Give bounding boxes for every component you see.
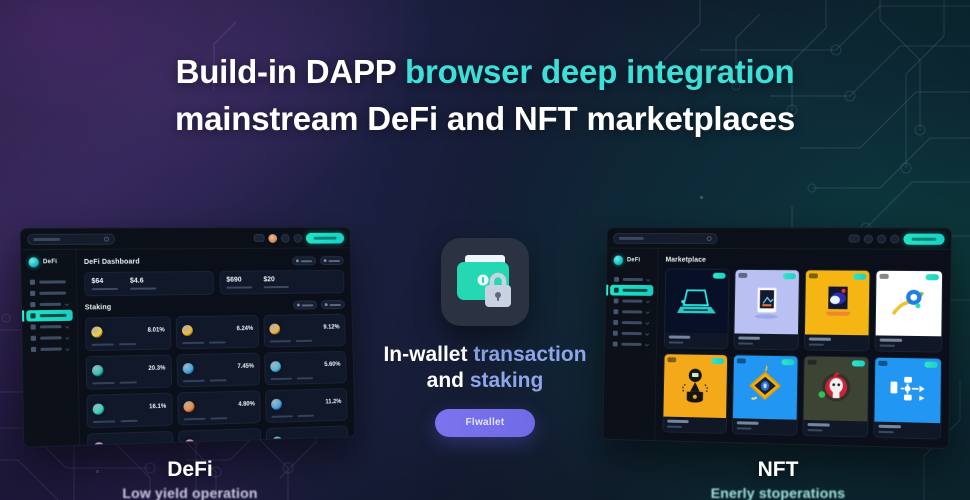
nft-nav-item-discover[interactable]: Discover (610, 274, 653, 285)
nft-card[interactable]: Magi Ink1.7 ETH (731, 354, 798, 436)
nft-artwork (665, 269, 728, 332)
center-line1-white: In-wallet (383, 343, 473, 366)
defi-brand: DeFi (25, 255, 72, 274)
staking-card[interactable]: CardanoADA20.3%Total StakedRewards (86, 354, 172, 389)
staking-card-meta1: Total Staked (272, 415, 293, 418)
nft-page-header: Marketplace (665, 257, 943, 265)
grid-icon[interactable] (864, 234, 873, 243)
nav-item-label: Discover (623, 278, 643, 281)
nft-brand: DeFi (611, 253, 655, 271)
staking-card[interactable]: TetherUSDT8.01%Total StakedRewards (85, 316, 171, 351)
staking-card[interactable]: EthereumETH7.45%Total StakedRewards (176, 353, 260, 388)
nft-tag (737, 358, 746, 363)
header-chip-wallet[interactable]: Wallet (320, 256, 344, 265)
nft-card-price: 0.5 ETH (808, 343, 823, 345)
coin-icon (92, 364, 103, 375)
bell-icon[interactable] (877, 234, 886, 243)
center-cta-label: Flwallet (465, 417, 504, 428)
stat: $64Total Supply (91, 278, 118, 290)
center-cta-button[interactable]: Flwallet (435, 409, 535, 437)
coin-icon (183, 401, 194, 412)
nav-item-label: Collections (622, 321, 642, 324)
nav-icon (30, 302, 35, 307)
staking-card-meta2: Rewards (209, 341, 226, 343)
stat-label: Estimated Yield (227, 286, 252, 288)
nft-nav-item-dashboard[interactable]: Dashboard (610, 306, 653, 317)
nft-nav-item-featured[interactable]: Featured (610, 285, 653, 296)
menu-icon[interactable] (849, 234, 860, 242)
nft-tag (807, 359, 816, 364)
caption-defi-title: DeFi (60, 458, 320, 482)
defi-nav-item-transfer[interactable]: Transfer (27, 343, 74, 355)
staking-card-meta1: Total Staked (182, 342, 204, 344)
nft-card[interactable]: Crypto Art0.6 ETH (873, 356, 942, 439)
caption-defi: DeFi Low yield operation (60, 458, 320, 500)
staking-card-meta2: Rewards (298, 415, 314, 417)
chip-icon (297, 304, 300, 307)
page-title: Marketplace (665, 257, 706, 264)
chip-label: Rewards (330, 303, 341, 305)
headline-line1-accent: browser deep integration (405, 53, 794, 90)
nft-card-price: 3.0 ETH (807, 429, 822, 431)
coin-icon (270, 361, 281, 372)
center-feature: In-wallet transaction and staking Flwall… (370, 238, 600, 437)
staking-card[interactable]: SolanaSOL9.12%Total StakedRewards (264, 314, 346, 348)
nft-card-price: 0.9 ETH (667, 426, 682, 428)
staking-card-meta2: Rewards (209, 379, 226, 381)
staking-grid: TetherUSDT8.01%Total StakedRewardsBitcoi… (85, 314, 349, 445)
nft-tag (667, 357, 676, 362)
staking-card-meta1: Total Staked (92, 382, 114, 385)
defi-topbar-actions: Connect Wallet (254, 232, 345, 243)
staking-card[interactable]: BitcoinBTC6.24%Total StakedRewards (175, 315, 259, 349)
staking-card-apy: 20.3% (148, 366, 165, 372)
staking-card-apy: 7.45% (237, 364, 254, 370)
stat-card: $690Estimated Yield$20Net Annual Rate (219, 270, 344, 295)
stat-value: $20 (263, 276, 288, 283)
defi-brand-name: DeFi (43, 259, 57, 265)
staking-card-apy: 4.80% (238, 401, 255, 407)
staking-chip-rewards[interactable]: Rewards (321, 300, 345, 309)
nav-item-label: My Assets (622, 332, 642, 335)
nft-tag (879, 360, 888, 365)
nav-item-label: Activity (622, 300, 642, 303)
staking-card[interactable]: PolygonMATIC12.0%Total StakedRewards (87, 431, 173, 445)
staking-card-meta1: Total Staked (183, 380, 205, 383)
defi-titlebar: Search Connect Wallet (21, 228, 350, 250)
stat: $20Net Annual Rate (263, 276, 288, 288)
chip-icon (296, 259, 299, 262)
nav-icon (614, 277, 619, 282)
center-line1-accent: transaction (473, 343, 586, 366)
nft-nav-item-collections[interactable]: Collections (609, 317, 652, 328)
stat-value: $64 (91, 278, 118, 285)
staking-card-apy: 5.60% (324, 362, 340, 368)
nft-badge (924, 361, 937, 367)
chevron-down-icon (645, 332, 649, 336)
nft-artwork (734, 270, 798, 334)
caption-nft-title: NFT (648, 458, 908, 482)
defi-nav-item-overview[interactable]: Overview (26, 276, 73, 288)
staking-card-apy: 6.24% (237, 326, 254, 332)
staking-card-meta1: Total Staked (92, 343, 114, 345)
nft-badge (782, 273, 795, 279)
nft-cta-label: Connect Wallet (912, 237, 937, 240)
stat-value: $690 (226, 277, 252, 284)
caption-nft-subtitle: Enerly stoperations (648, 485, 908, 500)
nft-card-title: Electric Art (880, 338, 903, 341)
logo-icon (28, 257, 38, 267)
staking-chip-stake[interactable]: Stake (293, 300, 317, 309)
chip-icon (324, 259, 327, 262)
nft-artwork (876, 271, 942, 336)
avatar[interactable] (268, 233, 277, 242)
chevron-down-icon (646, 310, 650, 314)
staking-card-meta1: Total Staked (270, 340, 291, 342)
stat: $690Estimated Yield (226, 277, 252, 289)
staking-card[interactable]: BinanceBNB11.2%Total StakedRewards (265, 388, 347, 423)
defi-page-header: DeFi Dashboard ConnectWallet (84, 256, 344, 267)
logo-icon (613, 255, 623, 265)
nav-item-label: Marketplace (40, 325, 62, 328)
nft-badge (853, 274, 866, 280)
nft-card-title: Crypto Art (879, 425, 902, 429)
nft-card[interactable]: Etheral0.8 ETH (664, 268, 730, 348)
nft-badge (713, 273, 726, 279)
defi-search-placeholder: Search (33, 237, 60, 240)
wallet-lock-icon (441, 238, 529, 326)
nft-card-title: Recap Pro (807, 423, 829, 427)
nft-artwork (875, 357, 941, 423)
nft-card-title: Chain Pro (667, 420, 688, 424)
defi-stat-cards: $64Total Supply$4.6Total Borrow$690Estim… (84, 270, 344, 297)
defi-dashboard-panel[interactable]: Search Connect Wallet DeFi OverviewDisco… (20, 227, 356, 448)
staking-card-apy: 16.1% (149, 404, 166, 411)
nft-badge (925, 274, 938, 280)
nft-brand-name: DeFi (627, 257, 640, 263)
promo-banner: Build-in DAPP browser deep integration m… (0, 0, 970, 500)
search-icon (104, 236, 109, 241)
search-icon (707, 236, 712, 241)
nft-card-title: Magic Art Tier (738, 336, 760, 339)
chip-label: Wallet (328, 260, 339, 262)
defi-nav-item-marketplace[interactable]: Marketplace (26, 321, 73, 333)
defi-main: DeFi Dashboard ConnectWallet $64Total Su… (77, 248, 355, 445)
nav-item-label: Transfer (621, 343, 641, 346)
nft-badge (711, 357, 724, 363)
staking-card-meta2: Rewards (119, 343, 136, 345)
nft-sidebar[interactable]: DeFi DiscoverFeaturedActivityDashboardCo… (603, 249, 659, 441)
nft-nav-item-activity[interactable]: Activity (610, 295, 653, 306)
nav-icon (613, 320, 618, 325)
nft-artwork (803, 356, 868, 421)
chip-icon (325, 303, 328, 306)
defi-nav-item-trade[interactable]: Trade (26, 299, 73, 311)
nav-icon (30, 291, 35, 296)
staking-card-meta1: Total Staked (93, 420, 115, 423)
nav-item-label: Transfer (40, 347, 62, 350)
nav-icon (31, 347, 36, 352)
nft-card[interactable]: Blue Ink0.5 ETH (803, 269, 871, 351)
nav-icon (31, 336, 36, 341)
nft-artwork (663, 354, 727, 418)
nft-main: Marketplace Etheral0.8 ETHMagic Art Tier… (655, 249, 950, 448)
chevron-down-icon (645, 342, 649, 346)
chevron-down-icon (65, 302, 69, 306)
nav-icon (614, 298, 619, 303)
nft-search-input[interactable]: Search (613, 233, 718, 244)
nft-tag (669, 272, 678, 277)
nft-nav-item-transfer[interactable]: Transfer (609, 339, 652, 350)
chevron-down-icon (646, 278, 650, 282)
nav-icon (614, 288, 619, 293)
coin-icon (271, 398, 282, 409)
stat-card: $64Total Supply$4.6Total Borrow (84, 271, 214, 296)
nft-card[interactable]: Chain Pro0.9 ETH (662, 353, 728, 434)
stat-label: Net Annual Rate (264, 286, 289, 288)
chevron-down-icon (65, 324, 69, 328)
nft-artwork (804, 270, 869, 334)
chevron-down-icon (646, 299, 650, 303)
nft-badge (852, 360, 865, 366)
headline-line1-white: Build-in DAPP (176, 53, 405, 90)
nav-item-label: Dashboard (622, 310, 642, 313)
nav-item-label: Trade (40, 303, 62, 306)
staking-card-meta1: Total Staked (183, 418, 205, 421)
stat: $4.6Total Borrow (130, 277, 156, 289)
coin-icon (93, 442, 104, 445)
defi-nav-item-dashboard[interactable]: Dashboard (26, 310, 73, 322)
nft-card-price: 2.1 ETH (880, 344, 895, 346)
stat-label: Total Supply (92, 288, 118, 290)
nft-badge (781, 359, 794, 365)
staking-card-apy: 11.2% (325, 399, 341, 405)
nav-icon (31, 324, 36, 329)
nft-marketplace-panel[interactable]: Search Connect Wallet DeFi DiscoverFeatu… (602, 227, 952, 449)
defi-sidebar[interactable]: DeFi OverviewDiscoverTradeDashboardMarke… (21, 250, 80, 447)
nft-card[interactable]: Recap Pro3.0 ETH (802, 355, 870, 438)
gear-icon[interactable] (890, 234, 899, 243)
nav-item-label: My Stats (40, 336, 62, 339)
coin-icon (182, 362, 193, 373)
staking-card-meta1: Total Staked (271, 378, 292, 380)
nav-icon (30, 313, 35, 318)
nft-card-title: Magi Ink (737, 421, 759, 425)
staking-header: Staking StakeRewards (85, 300, 345, 313)
defi-nav-item-my-stats[interactable]: My Stats (27, 332, 74, 344)
nav-item-label: Discover (39, 291, 66, 294)
stat-label: Total Borrow (130, 287, 156, 289)
chip-label: Stake (302, 304, 314, 306)
staking-card-meta2: Rewards (296, 340, 312, 342)
gear-icon[interactable] (293, 233, 302, 242)
nft-card-price: 0.6 ETH (879, 431, 894, 433)
bell-icon[interactable] (281, 233, 290, 242)
nft-tag (880, 274, 889, 279)
nft-card-price: 1.7 ETH (736, 427, 751, 429)
defi-search-input[interactable]: Search (27, 233, 115, 245)
nft-artwork (733, 355, 797, 420)
nft-search-placeholder: Search (619, 236, 644, 239)
coin-icon (182, 324, 193, 335)
nft-card-grid: Etheral0.8 ETHMagic Art Tier1.2 ETHBlue … (662, 268, 943, 439)
staking-card[interactable]: ChainlinkLINK4.80%Total StakedRewards (177, 390, 261, 425)
nft-card[interactable]: Electric Art2.1 ETH (875, 270, 943, 352)
staking-card[interactable]: PolkadotDOT16.1%Total StakedRewards (86, 393, 172, 429)
caption-nft: NFT Enerly stoperations (648, 458, 908, 500)
coin-icon (93, 403, 104, 414)
nft-card-price: 1.2 ETH (738, 342, 753, 344)
nav-item-label: Featured (623, 289, 648, 292)
headline: Build-in DAPP browser deep integration m… (0, 52, 970, 140)
caption-defi-subtitle: Low yield operation (60, 485, 320, 500)
staking-title: Staking (85, 304, 112, 311)
nft-tag (738, 273, 747, 278)
nft-card[interactable]: Magic Art Tier1.2 ETH (733, 269, 800, 350)
staking-card-meta2: Rewards (297, 377, 313, 379)
nft-card-title: Blue Ink (808, 337, 830, 340)
center-line2-accent: staking (470, 369, 544, 392)
nav-icon (613, 342, 618, 347)
menu-icon[interactable] (254, 234, 265, 242)
nav-icon (613, 309, 618, 314)
nav-icon (30, 280, 35, 285)
nav-item-label: Overview (39, 280, 66, 283)
nav-item-label: Dashboard (40, 314, 67, 317)
stat-value: $4.6 (130, 277, 156, 284)
nft-card-price: 0.8 ETH (669, 341, 684, 343)
center-line2-white: and (427, 369, 470, 392)
coin-icon (91, 326, 102, 337)
staking-card-apy: 8.01% (148, 327, 165, 333)
nft-tag (808, 273, 817, 278)
chevron-down-icon (65, 347, 69, 351)
page-title: DeFi Dashboard (84, 259, 140, 266)
nft-card-title: Etheral (669, 335, 690, 338)
chevron-down-icon (645, 321, 649, 325)
staking-card-meta2: Rewards (210, 417, 227, 419)
staking-card-apy: 9.12% (323, 325, 339, 331)
chip-label: Connect (301, 260, 313, 262)
nav-icon (613, 331, 618, 336)
defi-cta-label: Connect Wallet (314, 236, 337, 239)
center-caption: In-wallet transaction and staking (383, 342, 586, 395)
coin-icon (270, 323, 281, 334)
nft-nav-item-my-assets[interactable]: My Assets (609, 328, 652, 339)
staking-card-meta2: Rewards (120, 381, 137, 383)
nft-topbar-actions: Connect Wallet (849, 233, 945, 244)
staking-card[interactable]: AvalancheAVAX5.60%Total StakedRewards (264, 351, 346, 385)
defi-nav-item-discover[interactable]: Discover (26, 287, 73, 299)
staking-card-meta2: Rewards (120, 420, 137, 423)
header-chip-connect[interactable]: Connect (292, 256, 316, 265)
defi-connect-wallet-button[interactable]: Connect Wallet (306, 232, 344, 243)
chevron-down-icon (65, 336, 69, 340)
nft-titlebar: Search Connect Wallet (607, 228, 951, 250)
headline-line2: mainstream DeFi and NFT marketplaces (0, 99, 970, 139)
nft-connect-wallet-button[interactable]: Connect Wallet (903, 233, 944, 244)
